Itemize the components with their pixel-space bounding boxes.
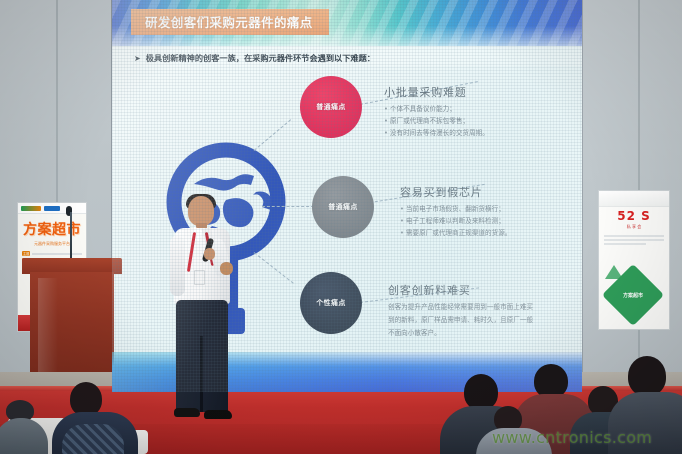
bullet-item: 需要原厂或代理商正规渠道的货源。	[400, 227, 511, 239]
text-placeholder-line	[604, 243, 646, 245]
bullet-item: 个体不具备议价能力；	[384, 103, 489, 115]
audience-head	[534, 364, 568, 398]
text-placeholder-line	[32, 253, 82, 255]
speaker-hand-holding-mic	[204, 248, 215, 260]
right-poster-headline: 52 S	[599, 209, 669, 223]
pain-point-bullets-1: 个体不具备议价能力； 原厂或代理商不拆包零售； 没有时间去等待漫长的交货周期。	[384, 103, 489, 140]
pain-point-block-1: 小批量采购难题 个体不具备议价能力； 原厂或代理商不拆包零售； 没有时间去等待漫…	[384, 84, 489, 140]
speaker-leg-separation	[200, 336, 203, 412]
left-poster-logobar	[18, 203, 86, 214]
bullet-item: 没有时间去等待漫长的交货周期。	[384, 127, 489, 139]
speaker-hand-right	[220, 262, 233, 275]
audience-member	[52, 382, 142, 454]
speaker-shoe-right	[204, 410, 232, 419]
slide-title: 研发创客们采购元器件的痛点	[145, 12, 313, 31]
slide-lead-line: ➤ 极具创新精神的创客一族，在采购元器件环节会遇到以下难题：	[134, 52, 375, 64]
bullet-item: 原厂或代理商不拆包零售；	[384, 115, 489, 127]
left-poster-tag: 主题	[22, 251, 30, 256]
right-poster-diamond-label: 方案超市	[611, 273, 655, 317]
partner-logo-green-icon	[21, 206, 41, 211]
pain-point-badge-1: 普通痛点	[300, 76, 362, 138]
right-poster-diamond: 方案超市	[602, 264, 664, 326]
right-poster-header	[599, 191, 669, 207]
speaker-arm-left	[170, 236, 185, 296]
pain-point-badge-1-label: 普通痛点	[316, 102, 346, 112]
pain-point-badge-3-label: 个性痛点	[316, 298, 346, 308]
gooseneck-microphone-stand	[70, 212, 72, 262]
lectern	[22, 258, 122, 378]
bullet-item: 当前电子市场假货、翻新货横行；	[400, 203, 511, 215]
pain-point-heading-2: 容易买到假芯片	[400, 184, 511, 200]
right-poster-text-lines	[604, 235, 664, 245]
pain-point-heading-1: 小批量采购难题	[384, 84, 489, 100]
connector-line-2	[262, 206, 314, 207]
audience-patterned-top	[62, 424, 124, 454]
bullet-item: 电子工程师难以判断及来料检测；	[400, 215, 511, 227]
arrow-icon: ➤	[134, 54, 141, 63]
left-poster-headline: 方案超市	[18, 219, 86, 239]
pain-point-block-3: 创客创新料难买 创客为提升产品性能经常需要用到一般市面上难买到的新料，原厂样品需…	[388, 282, 538, 340]
right-poster: 52 S 私 享 会 方案超市	[598, 190, 670, 330]
pain-point-badge-2: 普通痛点	[312, 176, 374, 238]
text-placeholder-line	[604, 239, 664, 241]
speaker-head	[188, 196, 214, 226]
photo-scene: 研发创客们采购元器件的痛点 ➤ 极具创新精神的创客一族，在采购元器件环节会遇到以…	[0, 0, 682, 454]
audience-body	[0, 418, 48, 454]
lectern-highlight	[38, 278, 58, 374]
audience-head	[628, 356, 666, 396]
watermark: www.cntronics.com	[492, 428, 652, 447]
speaker-badge	[194, 270, 205, 285]
slide-lead-text: 极具创新精神的创客一族，在采购元器件环节会遇到以下难题：	[146, 52, 375, 64]
pain-point-block-2: 容易买到假芯片 当前电子市场假货、翻新货横行； 电子工程师难以判断及来料检测； …	[400, 184, 511, 240]
audience-head	[70, 382, 102, 416]
right-poster-subline: 私 享 会	[599, 224, 669, 230]
audience-head	[464, 374, 498, 410]
pain-point-badge-3: 个性痛点	[300, 272, 362, 334]
pain-point-badge-2-label: 普通痛点	[328, 202, 358, 212]
partner-logo-blue-icon	[44, 206, 60, 211]
pain-point-bullets-2: 当前电子市场假货、翻新货横行； 电子工程师难以判断及来料检测； 需要原厂或代理商…	[400, 203, 511, 240]
left-poster-row: 主题	[22, 251, 82, 256]
slide-title-banner: 研发创客们采购元器件的痛点	[131, 9, 329, 35]
audience-member	[0, 400, 60, 454]
pain-point-heading-3: 创客创新料难买	[388, 282, 538, 298]
speaker-shoe-left	[174, 408, 200, 417]
left-poster-subline: 元器件采购服务平台	[18, 241, 86, 247]
speaker-presenter	[160, 196, 246, 428]
pain-point-paragraph-3: 创客为提升产品性能经常需要用到一般市面上难买到的新料，原厂样品需申请、耗时久，且…	[388, 301, 538, 340]
text-placeholder-line	[604, 235, 664, 237]
